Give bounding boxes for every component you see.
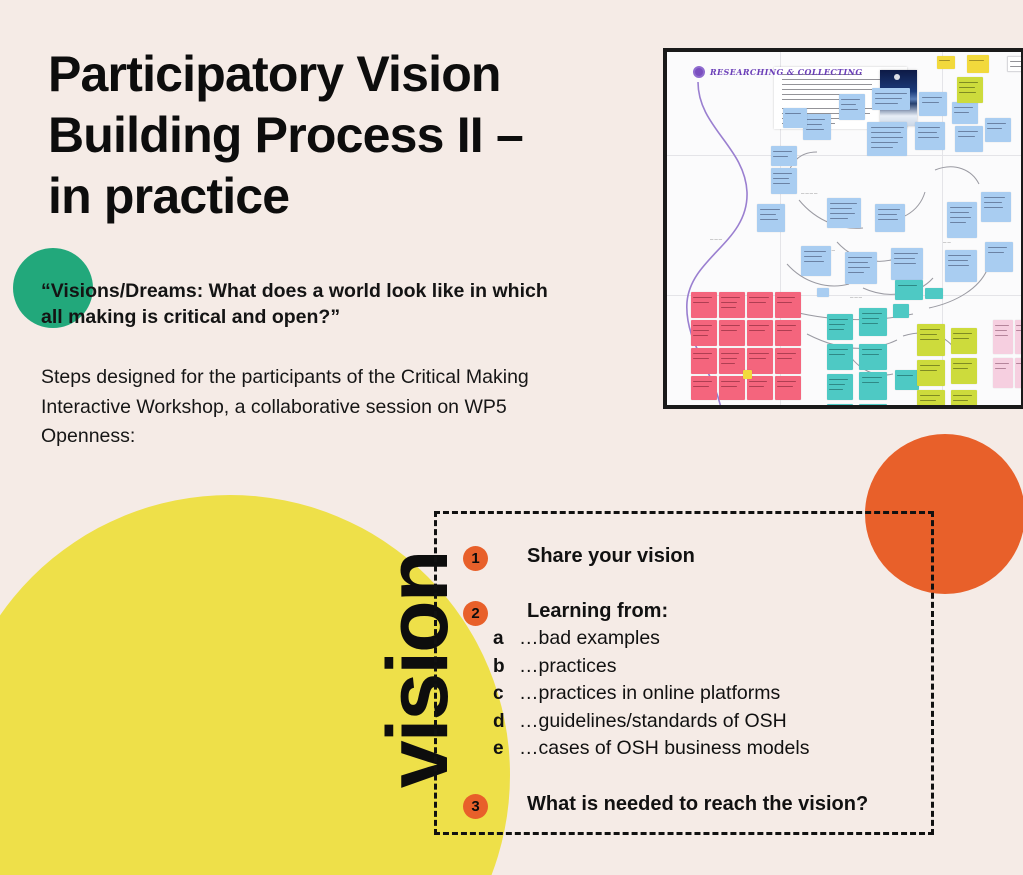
sticky-note [859,344,887,370]
sticky-note [775,320,801,346]
sticky-note [719,376,745,400]
whiteboard-canvas: RESEARCHING & COLLECTING — — — — — — — — [667,52,1021,405]
sticky-note [775,348,801,374]
sticky-note [719,320,745,346]
sticky-note [955,126,983,152]
purple-node-icon [693,66,705,78]
sticky-note [895,370,919,390]
sticky-note [719,292,745,318]
sublist-letter-a: a [493,628,515,650]
sticky-note [775,292,801,318]
sticky-note [801,246,831,276]
sticky-note [747,320,773,346]
steps-content: 1 Share your vision 2 Learning from: a …… [437,514,931,832]
sticky-note [747,376,773,400]
sublist-item-e: e …cases of OSH business models [493,737,809,765]
intro-paragraph: Steps designed for the participants of t… [41,363,541,452]
sublist-letter-d: d [493,711,515,733]
sticky-note [891,248,923,280]
sticky-note [967,55,989,73]
step-label-3: What is needed to reach the vision? [527,793,868,816]
sticky-note [691,320,717,346]
step-item-2[interactable]: 2 Learning from: [463,600,668,626]
slide-title: Participatory Vision Building Process II… [48,44,648,227]
sticky-note [875,204,905,232]
whiteboard-caption: — — — [850,295,862,300]
sticky-note [827,198,861,228]
sublist-text-d: …guidelines/standards of OSH [519,710,787,733]
step-item-1[interactable]: 1 Share your vision [463,545,695,571]
sticky-note [859,404,887,405]
sticky-note [985,118,1011,142]
sticky-note [919,92,947,116]
sublist-item-a: a …bad examples [493,627,809,655]
sticky-note [867,122,907,156]
sticky-note [691,292,717,318]
sublist-letter-c: c [493,683,515,705]
step-label-2: Learning from: [527,600,668,623]
sticky-note [993,358,1013,388]
step-badge-3: 3 [463,794,488,819]
step-badge-2: 2 [463,601,488,626]
sticky-note [845,252,877,284]
whiteboard-section-label-text: RESEARCHING & COLLECTING [710,67,863,77]
sticky-note [895,280,923,300]
whiteboard-caption: — — — [710,237,722,242]
sticky-note [859,372,887,400]
sticky-note [925,288,943,299]
sticky-note [951,390,977,405]
sticky-note [803,114,831,140]
sticky-note [981,192,1011,222]
sticky-note [747,292,773,318]
sticky-note [783,108,807,128]
learning-from-sublist: a …bad examples b …practices c …practice… [493,627,809,765]
sticky-note [827,404,853,405]
sticky-note [1015,320,1021,354]
sticky-note [917,360,945,386]
sticky-note [771,146,797,166]
sublist-text-e: …cases of OSH business models [519,737,809,760]
whiteboard-caption: — — — — [801,191,817,196]
sticky-note [839,94,865,120]
slide-canvas: Participatory Vision Building Process II… [0,0,1023,875]
sticky-note [952,102,978,124]
sticky-note [827,344,853,370]
sticky-note [1015,358,1021,388]
sublist-text-b: …practices [519,655,617,678]
sticky-note [743,370,752,379]
sticky-note [827,374,853,400]
sticky-note [719,348,745,374]
sticky-note [985,242,1013,272]
whiteboard-caption: — — [943,240,951,245]
sticky-note [917,324,945,356]
sublist-text-a: …bad examples [519,627,660,650]
sticky-note [775,376,801,400]
sublist-letter-e: e [493,738,515,760]
whiteboard-screenshot: RESEARCHING & COLLECTING — — — — — — — — [663,48,1023,409]
sublist-item-d: d …guidelines/standards of OSH [493,710,809,738]
sticky-note [915,122,945,150]
sticky-note [757,204,785,232]
step-badge-1: 1 [463,546,488,571]
sticky-note [951,328,977,354]
sticky-note [859,308,887,336]
sticky-note [827,314,853,340]
sticky-note [691,348,717,374]
sticky-note [947,202,977,238]
step-label-1: Share your vision [527,545,695,568]
sticky-note [957,77,983,103]
sublist-item-c: c …practices in online platforms [493,682,809,710]
step-item-3[interactable]: 3 What is needed to reach the vision? [463,793,868,819]
sticky-note [817,288,829,297]
sticky-note [951,358,977,384]
sticky-note [945,250,977,282]
steps-dotted-box: 1 Share your vision 2 Learning from: a …… [434,511,934,835]
vision-question-quote: “Visions/Dreams: What does a world look … [41,278,571,331]
sticky-note [937,56,955,69]
sticky-note [771,168,797,194]
sticky-note [993,320,1013,354]
sticky-note [893,304,909,318]
sticky-note [691,376,717,400]
sublist-item-b: b …practices [493,655,809,683]
sticky-note [1007,56,1021,72]
whiteboard-section-label: RESEARCHING & COLLECTING [693,66,863,78]
sticky-note [917,390,945,405]
sublist-letter-b: b [493,656,515,678]
sublist-text-c: …practices in online platforms [519,682,780,705]
sticky-note [872,88,910,110]
